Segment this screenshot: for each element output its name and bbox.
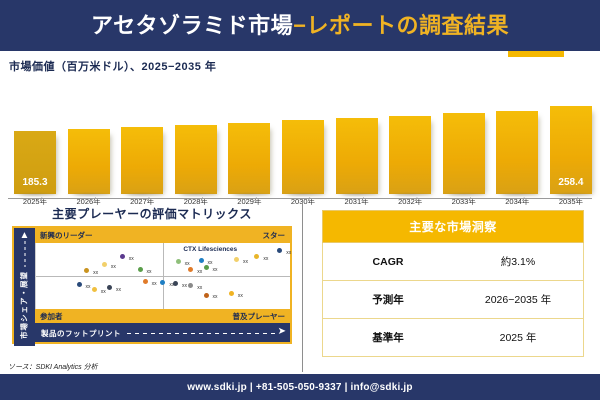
insights-row: CAGR約3.1%	[322, 243, 584, 281]
bar-series: 185.32025年2026年2027年2028年2029年2030年2031年…	[14, 102, 592, 194]
matrix-top-band: 新興のリーダー スター	[35, 228, 290, 243]
footer-contact: www.sdki.jp | +81-505-050-9337 | info@sd…	[187, 382, 412, 393]
matrix-point-label: xx	[152, 281, 157, 287]
matrix-point-label: xx	[146, 269, 151, 275]
matrix-point-label: xx	[116, 287, 121, 293]
section-divider-horizontal	[8, 198, 592, 199]
quadrant-label-bottom-right: 普及プレーヤー	[233, 311, 286, 322]
matrix-point	[204, 265, 209, 270]
matrix-point-label: xx	[238, 293, 243, 299]
axis-dash-line	[24, 241, 25, 267]
bar: 258.4	[550, 106, 592, 194]
chart-title: 市場価値（百万米ドル）、2025−2035 年	[9, 60, 216, 74]
arrow-right-icon: ➤	[278, 327, 286, 337]
matrix-y-axis-label: 市場シェア・展望	[19, 271, 30, 339]
quadrant-divider-horizontal	[36, 276, 290, 277]
quadrant-label-top-right: スター	[263, 230, 286, 241]
matrix-point-label: xx	[213, 294, 218, 300]
bar-column: 2032年	[389, 102, 431, 194]
bar-column: 2031年	[336, 102, 378, 194]
bar	[121, 127, 163, 194]
company-label-ctx: CTX Lifesciences	[183, 246, 237, 253]
bar	[228, 123, 270, 194]
insights-row-value: 2025 年	[453, 330, 583, 345]
bar-value-label: 185.3	[14, 177, 56, 188]
bar	[68, 129, 110, 194]
matrix-point-label: xx	[263, 256, 268, 262]
insights-row-value: 2026−2035 年	[453, 292, 583, 307]
matrix-point-label: xx	[197, 285, 202, 291]
matrix-point	[188, 267, 193, 272]
matrix-point	[204, 293, 209, 298]
matrix-point-label: xx	[111, 264, 116, 270]
insights-row: 予測年2026−2035 年	[322, 281, 584, 319]
bar-column: 2033年	[443, 102, 485, 194]
matrix-point	[229, 291, 234, 296]
bar-column: 2034年	[496, 102, 538, 194]
matrix-point-label: xx	[185, 261, 190, 267]
bar	[282, 120, 324, 194]
matrix-point	[234, 257, 239, 262]
matrix-x-axis-label: 製品のフットプリント	[41, 328, 121, 339]
matrix-point-label: xx	[182, 283, 187, 289]
matrix-point-label: xx	[101, 289, 106, 295]
matrix-point	[173, 281, 178, 286]
matrix-point	[254, 254, 259, 259]
matrix-point	[176, 259, 181, 264]
bar-column: 2028年	[175, 102, 217, 194]
market-value-chart: 市場価値（百万米ドル）、2025−2035 年 185.32025年2026年2…	[0, 56, 600, 196]
bar-column: 2029年	[228, 102, 270, 194]
bar	[175, 125, 217, 194]
bar	[389, 116, 431, 194]
matrix-point-label: xx	[197, 269, 202, 275]
bar	[496, 111, 538, 194]
insights-row: 基準年2025 年	[322, 319, 584, 357]
bar-column: 185.32025年	[14, 102, 56, 194]
quadrant-label-top-left: 新興のリーダー	[40, 230, 93, 241]
insights-row-key: 予測年	[323, 292, 453, 307]
page-title-accent: −レポートの調査結果	[293, 13, 509, 38]
bar-value-label: 258.4	[550, 177, 592, 188]
section-divider-vertical	[302, 202, 303, 372]
matrix-points: CTX Lifesciences xxxxxxxxxxxxxxxxxxxxxxx…	[36, 243, 290, 309]
bar-column: 258.42035年	[550, 102, 592, 194]
axis-dash-line-horizontal	[127, 333, 276, 334]
matrix-plot-area: CTX Lifesciences xxxxxxxxxxxxxxxxxxxxxxx…	[35, 243, 290, 309]
matrix-heading: 主要プレーヤーの評価マトリックス	[8, 202, 296, 222]
insights-row-key: 基準年	[323, 330, 453, 345]
infographic-page: アセタゾラミド市場−レポートの調査結果 市場価値（百万米ドル）、2025−203…	[0, 0, 600, 400]
matrix-point	[199, 258, 204, 263]
quadrant-label-bottom-left: 参加者	[40, 311, 63, 322]
matrix-point	[92, 287, 97, 292]
bar	[443, 113, 485, 194]
insights-row-value: 約3.1%	[453, 254, 583, 269]
insights-row-key: CAGR	[323, 256, 453, 268]
matrix-point	[102, 262, 107, 267]
matrix-box: ▲ 市場シェア・展望 新興のリーダー スター CTX Lifesciences …	[12, 226, 292, 344]
footer-bar: www.sdki.jp | +81-505-050-9337 | info@sd…	[0, 374, 600, 400]
bar	[336, 118, 378, 194]
source-note: ソース：SDKI Analytics 分析	[8, 362, 98, 372]
matrix-x-axis: 製品のフットプリント ➤	[35, 323, 290, 342]
bar-column: 2030年	[282, 102, 324, 194]
key-insights-panel: 主要な市場洞察 CAGR約3.1%予測年2026−2035 年基準年2025 年	[322, 210, 584, 357]
matrix-point	[84, 268, 89, 273]
arrow-up-icon: ▲	[20, 231, 30, 240]
matrix-point	[160, 280, 165, 285]
matrix-bottom-band: 参加者 普及プレーヤー	[35, 309, 290, 323]
bar-column: 2027年	[121, 102, 163, 194]
matrix-point-label: xx	[213, 267, 218, 273]
matrix-point	[143, 279, 148, 284]
bar: 185.3	[14, 131, 56, 194]
matrix-point	[120, 254, 125, 259]
matrix-point	[77, 282, 82, 287]
bar-column: 2026年	[68, 102, 110, 194]
matrix-point	[138, 267, 143, 272]
player-matrix-panel: 主要プレーヤーの評価マトリックス ▲ 市場シェア・展望 新興のリーダー スター …	[8, 202, 296, 360]
matrix-point	[188, 283, 193, 288]
matrix-y-axis-label-wrap: 市場シェア・展望	[14, 266, 35, 344]
header-bar: アセタゾラミド市場−レポートの調査結果	[0, 0, 600, 48]
matrix-point-label: xx	[93, 270, 98, 276]
matrix-point-label: xx	[86, 284, 91, 290]
matrix-point	[107, 285, 112, 290]
matrix-y-axis: ▲ 市場シェア・展望	[14, 228, 35, 346]
matrix-point-label: xx	[243, 259, 248, 265]
matrix-point-label: xx	[286, 250, 291, 256]
page-title: アセタゾラミド市場−レポートの調査結果	[91, 8, 509, 40]
matrix-point	[277, 248, 282, 253]
matrix-point-label: xx	[129, 256, 134, 262]
page-title-main: アセタゾラミド市場	[91, 13, 293, 38]
insights-table: CAGR約3.1%予測年2026−2035 年基準年2025 年	[322, 243, 584, 357]
insights-heading: 主要な市場洞察	[322, 210, 584, 243]
